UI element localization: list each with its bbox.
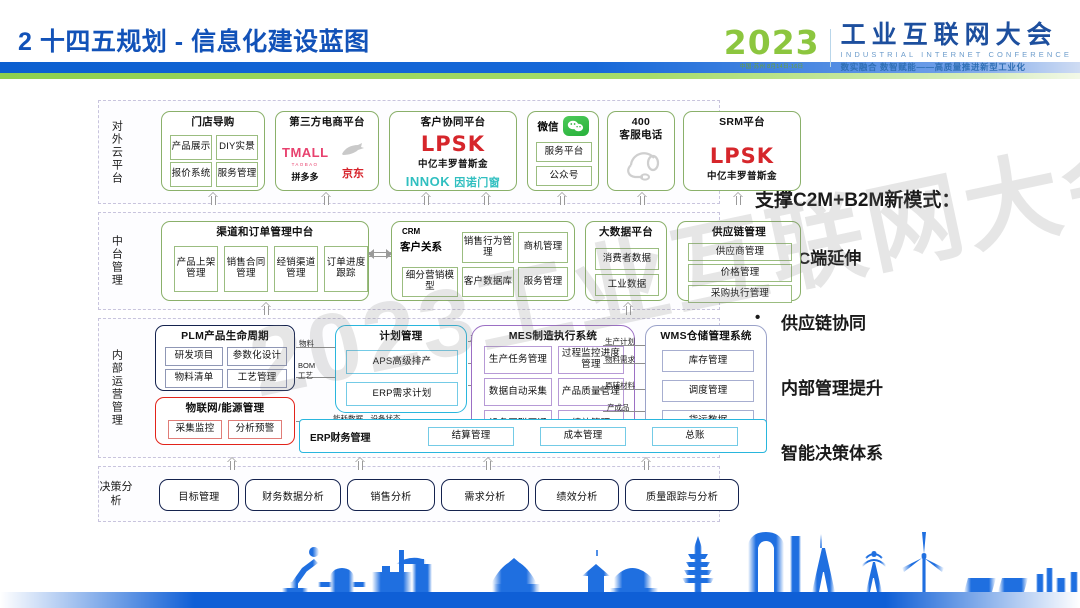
chip-service-mgmt[interactable]: 服务管理: [518, 267, 568, 297]
chip-analysis-alert[interactable]: 分析预警: [228, 420, 282, 439]
brand-jd-icon[interactable]: [332, 142, 374, 163]
chip-customer-database[interactable]: 客户数据库: [462, 267, 514, 297]
chip-official-account[interactable]: 公众号: [536, 166, 592, 186]
flow-label-bom: BOM: [298, 361, 315, 370]
band-body-decision-analysis: 目标管理 财务数据分析 销售分析 需求分析 绩效分析 质量跟踪与分析: [133, 467, 719, 521]
chip-product-display[interactable]: 产品展示: [170, 135, 212, 160]
right-panel-item-label: 内部管理提升: [781, 374, 883, 399]
card-title: 渠道和订单管理中台: [162, 222, 368, 238]
card-plm[interactable]: PLM产品生命周期 研发项目 参数化设计 物料清单 工艺管理: [155, 325, 295, 391]
arrow-up-icon: [557, 192, 568, 205]
band-decision-analysis: 决策分析 目标管理 财务数据分析 销售分析 需求分析 绩效分析 质量跟踪与分析: [98, 466, 720, 522]
card-title: 门店导购: [162, 112, 264, 128]
right-panel-item-1: • 供应链协同: [755, 309, 1075, 334]
brand-lpsk: LPSK: [684, 144, 800, 168]
skyline-shapes: [282, 532, 1080, 592]
card-title: 供应链管理: [678, 222, 800, 238]
arrow-down-icon: [623, 311, 634, 324]
chip-production-task-mgmt[interactable]: 生产任务管理: [484, 346, 552, 374]
logo-name-block: 工业互联网大会 INDUSTRIAL INTERNET CONFERENCE 数…: [841, 22, 1072, 73]
arrow-down-icon: [637, 206, 648, 219]
chip-segmented-marketing-model[interactable]: 细分营销模型: [402, 267, 458, 297]
arrow-down-icon: [557, 206, 568, 219]
card-store-guide[interactable]: 门店导购 产品展示 DIY实景 报价系统 服务管理: [161, 111, 265, 191]
card-title-hotline-label: 客服电话: [608, 128, 674, 141]
band-label-decision-analysis: 决策分析: [99, 467, 133, 521]
headset-icon: [622, 152, 662, 189]
chip-order-progress-tracking[interactable]: 订单进度跟踪: [324, 246, 368, 292]
logo-divider: [830, 29, 831, 67]
right-panel-item-label: 智能决策体系: [781, 439, 883, 464]
chip-service-platform[interactable]: 服务平台: [536, 142, 592, 162]
chip-product-listing-mgmt[interactable]: 产品上架管理: [174, 246, 218, 292]
arrow-down-icon: [733, 206, 744, 219]
card-title: PLM产品生命周期: [156, 326, 294, 342]
logo-name-en: INDUSTRIAL INTERNET CONFERENCE: [841, 50, 1072, 59]
chip-supplier-mgmt[interactable]: 供应商管理: [688, 243, 792, 261]
card-bigdata-platform[interactable]: 大数据平台 消费者数据 工业数据: [585, 221, 667, 301]
chip-quote-system[interactable]: 报价系统: [170, 162, 212, 187]
card-title-crm-abbr: CRM: [402, 227, 420, 236]
card-hotline[interactable]: 400 客服电话: [607, 111, 675, 191]
arrow-up-icon: [641, 457, 652, 470]
pill-performance-analysis[interactable]: 绩效分析: [535, 479, 619, 511]
arrow-down-icon: [481, 206, 492, 219]
arrow-up-icon: [637, 192, 648, 205]
brand-pinduoduo[interactable]: 拼多多: [283, 167, 327, 185]
chip-industrial-data[interactable]: 工业数据: [595, 274, 659, 296]
chip-bill-of-materials[interactable]: 物料清单: [165, 369, 223, 388]
chip-price-mgmt[interactable]: 价格管理: [688, 264, 792, 282]
flow-label-material: 物料: [299, 338, 314, 349]
arrow-down-icon: [421, 206, 432, 219]
chip-process-mgmt[interactable]: 工艺管理: [227, 369, 287, 388]
chip-dispatch-mgmt[interactable]: 调度管理: [662, 380, 754, 402]
wechat-header: 微信: [528, 112, 598, 136]
card-third-party-ecommerce[interactable]: 第三方电商平台 TMALL TAOBAO 拼多多 京东: [275, 111, 379, 191]
chip-opportunity-mgmt[interactable]: 商机管理: [518, 232, 568, 263]
card-crm[interactable]: CRM 客户关系 销售行为管理 商机管理 细分营销模型 客户数据库 服务管理: [391, 221, 575, 301]
bottom-skyline-decoration: [0, 530, 1080, 608]
arrow-up-icon: [227, 457, 238, 470]
arrow-up-icon: [483, 457, 494, 470]
arrow-up-icon: [321, 192, 332, 205]
arrow-up-icon: [208, 192, 219, 205]
arrow-bidirectional-icon: [369, 249, 391, 260]
card-channel-order-platform[interactable]: 渠道和订单管理中台 产品上架管理 销售合同管理 经销渠道管理 订单进度跟踪: [161, 221, 369, 301]
card-title: WMS仓储管理系统: [646, 326, 766, 342]
band-body-internal-operations: PLM产品生命周期 研发项目 参数化设计 物料清单 工艺管理 物联网/能源管理 …: [133, 319, 719, 457]
flow-label-material-demand: 物料需求: [605, 354, 635, 365]
right-panel-heading: 支撑C2M+B2M新模式：: [755, 185, 1075, 212]
card-title-hotline-number: 400: [608, 112, 674, 128]
chip-diy-scene[interactable]: DIY实景: [216, 135, 258, 160]
right-panel-item-label: 供应链协同: [781, 309, 866, 334]
right-bullet-panel: 支撑C2M+B2M新模式： • 向C端延伸 • 供应链协同 • 内部管理提升 •…: [755, 185, 1075, 504]
card-iot-energy[interactable]: 物联网/能源管理 采集监控 分析预警: [155, 397, 295, 445]
brand-jd[interactable]: 京东: [332, 164, 374, 182]
chip-service-mgmt[interactable]: 服务管理: [216, 162, 258, 187]
card-title: 计划管理: [336, 326, 466, 342]
jd-dog-icon: [340, 142, 366, 158]
brand-innok: INNOK 因诺门窗: [390, 174, 516, 190]
right-panel-item-2: • 内部管理提升: [755, 374, 1075, 399]
pill-quality-tracking-analysis[interactable]: 质量跟踪与分析: [625, 479, 739, 511]
right-panel-item-3: • 智能决策体系: [755, 439, 1075, 464]
card-title: 物联网/能源管理: [156, 398, 294, 414]
band-body-middle-platform: 渠道和订单管理中台 产品上架管理 销售合同管理 经销渠道管理 订单进度跟踪 CR…: [133, 213, 719, 309]
brand-tmall[interactable]: TMALL TAOBAO: [282, 144, 328, 167]
architecture-diagram: 对外云平台 门店导购 产品展示 DIY实景 报价系统 服务管理 第三方电商平台 …: [98, 100, 720, 522]
card-title-crm-cn: 客户关系: [400, 239, 442, 254]
arrow-up-icon: [421, 192, 432, 205]
right-panel-item-0: • 向C端延伸: [755, 244, 1075, 269]
band-label-external-cloud: 对外云平台: [99, 101, 133, 203]
chip-procurement-execution-mgmt[interactable]: 采购执行管理: [688, 285, 792, 303]
pill-financial-data-analysis[interactable]: 财务数据分析: [245, 479, 341, 511]
pill-sales-analysis[interactable]: 销售分析: [347, 479, 435, 511]
chip-sales-behavior-mgmt[interactable]: 销售行为管理: [462, 232, 514, 263]
flow-label-finished-goods: 产成品: [607, 402, 630, 413]
slide-page: 2 十四五规划 - 信息化建设蓝图 2023 中国·苏州 8月14日-16日 工…: [0, 0, 1080, 608]
chip-settlement-mgmt[interactable]: 结算管理: [428, 427, 514, 446]
card-title: SRM平台: [684, 112, 800, 128]
arrow-down-icon: [261, 311, 272, 324]
brand-lpsk-cn: 中亿丰罗普斯金: [390, 156, 516, 170]
logo-year-sub: 中国·苏州 8月14日-16日: [724, 62, 820, 70]
pill-demand-analysis[interactable]: 需求分析: [441, 479, 529, 511]
card-customer-collaboration[interactable]: 客户协同平台 LPSK 中亿丰罗普斯金 INNOK 因诺门窗: [389, 111, 517, 191]
band-middle-platform: 中台管理 渠道和订单管理中台 产品上架管理 销售合同管理 经销渠道管理 订单进度…: [98, 212, 720, 310]
card-srm-platform[interactable]: SRM平台 LPSK 中亿丰罗普斯金: [683, 111, 801, 191]
card-title: 微信: [538, 119, 559, 134]
arrow-up-icon: [733, 192, 744, 205]
chip-inventory-mgmt[interactable]: 库存管理: [662, 350, 754, 372]
arrow-down-icon: [321, 206, 332, 219]
chip-erp-demand-plan[interactable]: ERP需求计划: [346, 382, 458, 406]
chip-distribution-channel-mgmt[interactable]: 经销渠道管理: [274, 246, 318, 292]
logo-year: 2023: [724, 26, 820, 59]
conference-logo: 2023 中国·苏州 8月14日-16日 工业互联网大会 INDUSTRIAL …: [724, 22, 1072, 73]
chip-rd-project[interactable]: 研发项目: [165, 347, 223, 366]
brand-lpsk: LPSK: [390, 132, 516, 156]
arrow-up-icon: [481, 192, 492, 205]
card-supply-chain-mgmt[interactable]: 供应链管理 供应商管理 价格管理 采购执行管理: [677, 221, 801, 301]
card-title: 大数据平台: [586, 222, 666, 238]
chip-collection-monitoring[interactable]: 采集监控: [168, 420, 222, 439]
card-title: 第三方电商平台: [276, 112, 378, 128]
flow-label-production-plan: 生产计划: [605, 336, 635, 347]
logo-tagline: 数实融合 数智赋能——高质量推进新型工业化: [841, 61, 1072, 73]
chip-sales-contract-mgmt[interactable]: 销售合同管理: [224, 246, 268, 292]
chip-aps-scheduling[interactable]: APS高级排产: [346, 350, 458, 374]
chip-cost-mgmt[interactable]: 成本管理: [540, 427, 626, 446]
card-erp-finance[interactable]: ERP财务管理 结算管理 成本管理 总账: [299, 419, 767, 453]
brand-lpsk-cn: 中亿丰罗普斯金: [684, 168, 800, 182]
page-title: 2 十四五规划 - 信息化建设蓝图: [18, 22, 370, 58]
card-wechat[interactable]: 微信 服务平台 公众号: [527, 111, 599, 191]
flow-label-raw-materials: 原辅材料: [605, 380, 635, 391]
arrow-down-icon: [208, 206, 219, 219]
chip-general-ledger[interactable]: 总账: [652, 427, 738, 446]
band-label-middle-platform: 中台管理: [99, 213, 133, 309]
chip-consumer-data[interactable]: 消费者数据: [595, 248, 659, 270]
header-rule-green: [0, 73, 1080, 79]
card-plan-mgmt[interactable]: 计划管理 APS高级排产 ERP需求计划: [335, 325, 467, 413]
band-external-cloud: 对外云平台 门店导购 产品展示 DIY实景 报价系统 服务管理 第三方电商平台 …: [98, 100, 720, 204]
card-title: ERP财务管理: [310, 429, 371, 444]
pill-goal-mgmt[interactable]: 目标管理: [159, 479, 239, 511]
chip-auto-data-collection[interactable]: 数据自动采集: [484, 378, 552, 406]
logo-year-block: 2023 中国·苏州 8月14日-16日: [724, 26, 830, 70]
band-internal-operations: 内部运营管理 PLM产品生命周期 研发项目 参数化设计 物料清单 工艺管理 物联…: [98, 318, 720, 458]
card-title: 客户协同平台: [390, 112, 516, 128]
chip-parametric-design[interactable]: 参数化设计: [227, 347, 287, 366]
arrow-up-icon: [355, 457, 366, 470]
flow-label-craft: 工艺: [298, 370, 313, 381]
band-label-internal-operations: 内部运营管理: [99, 319, 133, 457]
logo-name-cn: 工业互联网大会: [841, 22, 1072, 48]
wechat-icon: [563, 116, 589, 136]
band-body-external-cloud: 门店导购 产品展示 DIY实景 报价系统 服务管理 第三方电商平台 TMALL …: [133, 101, 719, 203]
